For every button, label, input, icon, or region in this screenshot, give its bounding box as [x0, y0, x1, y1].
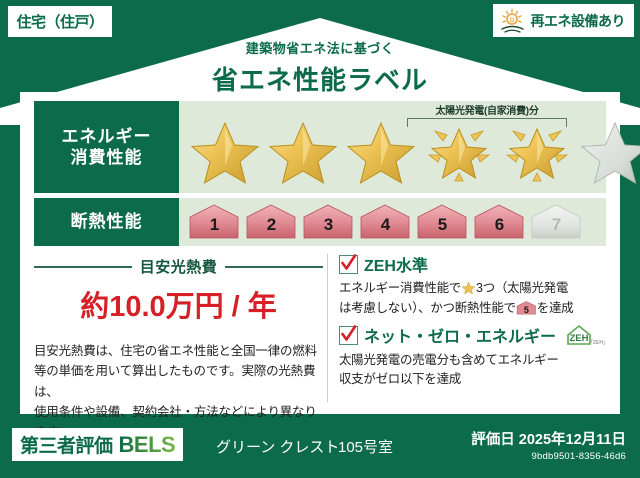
- insulation-chip-5-number: 5: [415, 215, 470, 235]
- bels-certification-mark: 第三者評価 BELS: [12, 428, 183, 461]
- svg-text:D: D: [509, 18, 514, 24]
- property-room-number: 105号室: [338, 436, 393, 457]
- insulation-chip-7: 7: [529, 202, 584, 242]
- label-title: 建築物省エネ法に基づく 省エネ性能ラベル: [0, 38, 640, 97]
- claim-zeh-level-header: ZEH水準: [339, 252, 606, 276]
- net-zero-body-line-2: 収支がゼロ以下を達成: [339, 370, 606, 390]
- bels-japanese-label: 第三者評価: [20, 431, 113, 458]
- insulation-chip-7-number: 7: [529, 215, 584, 235]
- insulation-performance-label: 断熱性能: [34, 198, 179, 246]
- lower-panels: 目安光熱費 約10.0万円 / 年 目安光熱費は、住宅の省エネ性能と全国一律の燃…: [34, 252, 606, 404]
- claim-net-zero-header: ネット・ゼロ・エネルギー ZEH 「ZEH」: [339, 323, 606, 348]
- energy-performance-row: エネルギー 消費性能 太陽光発電(自家消費)分: [34, 101, 606, 193]
- housing-type-tag: 住宅（住戸）: [8, 6, 112, 37]
- star-6-empty: [577, 115, 640, 185]
- zeh-level-checkbox[interactable]: [339, 255, 358, 274]
- insulation-performance-row: 断熱性能: [34, 198, 606, 246]
- evaluation-info: 評価日 2025年12月11日 9bdb9501-8356-46d6: [471, 428, 626, 462]
- claims-panel: ZEH水準 エネルギー消費性能で3つ（太陽光発電 は考慮しない）、かつ断熱性能で…: [337, 252, 606, 404]
- claim-net-zero-body: 太陽光発電の売電分も含めてエネルギー 収支がゼロ以下を達成: [339, 351, 606, 391]
- title-subtitle: 建築物省エネ法に基づく: [0, 38, 640, 57]
- panel-divider: [327, 254, 328, 402]
- property-name: グリーン クレスト: [216, 436, 339, 457]
- evaluation-date: 評価日 2025年12月11日: [471, 428, 626, 449]
- zeh-mark-icon: ZEH 「ZEH」: [564, 323, 606, 348]
- insulation-chip-2-number: 2: [244, 215, 299, 235]
- claim-net-zero-title: ネット・ゼロ・エネルギー: [364, 323, 556, 347]
- energy-stars-area: 太陽光発電(自家消費)分: [179, 101, 640, 193]
- utility-cost-title: 目安光熱費: [140, 256, 218, 277]
- star-4-solar: [421, 115, 497, 185]
- cost-note-line-1: 目安光熱費は、住宅の省エネ性能と全国一律の燃料: [34, 341, 323, 361]
- star-1: [187, 115, 263, 185]
- insulation-chip-2: 2: [244, 202, 299, 242]
- energy-star-rating: [187, 115, 640, 185]
- inline-star-icon: [461, 280, 476, 295]
- utility-cost-amount: 約10.0万円 / 年: [34, 283, 323, 325]
- claim-zeh-level-body: エネルギー消費性能で3つ（太陽光発電 は考慮しない）、かつ断熱性能で5を達成: [339, 279, 606, 319]
- svg-text:「ZEH」: 「ZEH」: [588, 340, 606, 346]
- inline-insulation-chip-icon: 5: [516, 300, 537, 316]
- claim-zeh-level: ZEH水準 エネルギー消費性能で3つ（太陽光発電 は考慮しない）、かつ断熱性能で…: [339, 252, 606, 319]
- insulation-chip-6-number: 6: [472, 215, 527, 235]
- insulation-levels-area: 1 2 3: [179, 198, 606, 246]
- claim-net-zero-energy: ネット・ゼロ・エネルギー ZEH 「ZEH」 太陽光発電の売電分も含めてエネルギ…: [339, 323, 606, 391]
- zeh-body-star-suffix: 3つ（太陽光発電: [476, 281, 568, 295]
- cost-rule-left: [34, 266, 132, 268]
- insulation-level-chips: 1 2 3: [187, 202, 584, 242]
- inline-chip-number: 5: [516, 303, 537, 317]
- insulation-chip-5: 5: [415, 202, 470, 242]
- renewable-equipment-badge: D 再エネ設備あり: [493, 4, 635, 37]
- performance-rows: エネルギー 消費性能 太陽光発電(自家消費)分: [34, 101, 606, 246]
- label-footer: 第三者評価 BELS グリーン クレスト 105号室 評価日 2025年12月1…: [0, 414, 640, 478]
- insulation-chip-1-number: 1: [187, 215, 242, 235]
- star-2: [265, 115, 341, 185]
- renewable-badge-label: 再エネ設備あり: [531, 11, 626, 31]
- insulation-chip-4-number: 4: [358, 215, 413, 235]
- star-3: [343, 115, 419, 185]
- insulation-chip-6: 6: [472, 202, 527, 242]
- bels-logo-text: BELS: [119, 432, 176, 458]
- energy-label-line1: エネルギー: [62, 126, 152, 147]
- cost-note-line-2: 等の単価を用いて算出したものです。実際の光熱費は、: [34, 361, 323, 402]
- insulation-chip-4: 4: [358, 202, 413, 242]
- utility-cost-panel: 目安光熱費 約10.0万円 / 年 目安光熱費は、住宅の省エネ性能と全国一律の燃…: [34, 252, 323, 404]
- energy-label-line2: 消費性能: [71, 147, 143, 168]
- insulation-chip-1: 1: [187, 202, 242, 242]
- utility-cost-header: 目安光熱費: [34, 256, 323, 277]
- insulation-chip-3: 3: [301, 202, 356, 242]
- star-5-solar: [499, 115, 575, 185]
- cost-rule-right: [225, 266, 323, 268]
- zeh-body-post: を達成: [537, 301, 574, 315]
- net-zero-body-line-1: 太陽光発電の売電分も含めてエネルギー: [339, 351, 606, 371]
- label-body: エネルギー 消費性能 太陽光発電(自家消費)分: [20, 92, 620, 414]
- claim-zeh-level-title: ZEH水準: [364, 252, 428, 276]
- zeh-body-mid: は考慮しない）、かつ断熱性能で: [339, 301, 516, 315]
- evaluation-id: 9bdb9501-8356-46d6: [471, 451, 626, 462]
- solar-sun-icon: D: [498, 8, 528, 34]
- net-zero-checkbox[interactable]: [339, 326, 358, 345]
- title-main: 省エネ性能ラベル: [0, 60, 640, 97]
- zeh-body-pre: エネルギー消費性能で: [339, 281, 461, 295]
- energy-performance-label: 住宅（住戸） D 再エネ設備あり 建築物省エネ法に基づく 省エネ性能ラベル: [0, 0, 640, 478]
- insulation-chip-3-number: 3: [301, 215, 356, 235]
- energy-performance-label: エネルギー 消費性能: [34, 101, 179, 193]
- svg-text:ZEH: ZEH: [570, 333, 589, 344]
